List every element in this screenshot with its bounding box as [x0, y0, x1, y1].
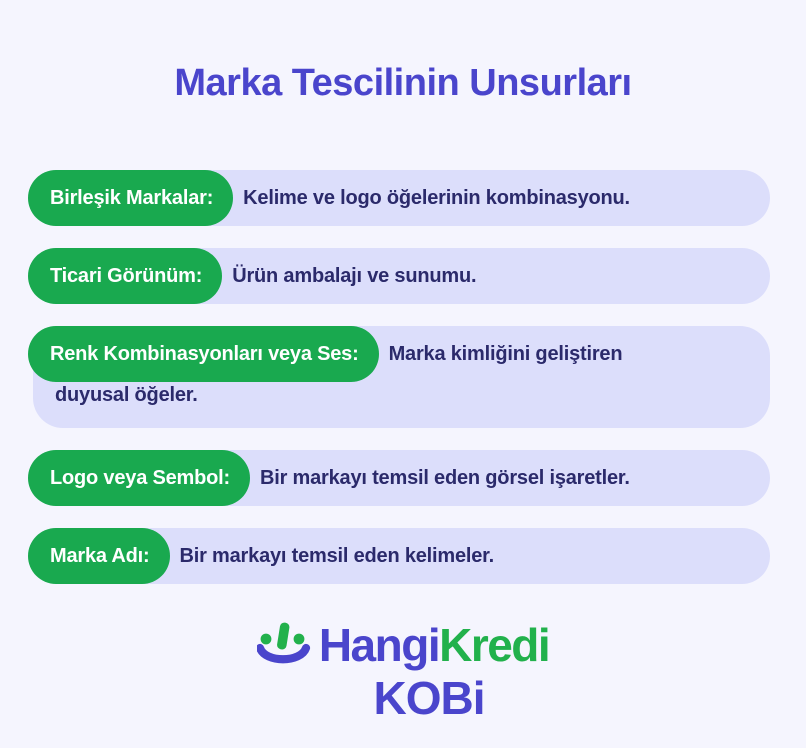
row-first-line: Logo veya Sembol:Bir markayı temsil eden… [33, 450, 770, 506]
list-item: Birleşik Markalar:Kelime ve logo öğeleri… [0, 170, 806, 226]
row-first-line: Birleşik Markalar:Kelime ve logo öğeleri… [33, 170, 770, 226]
logo-word-kobi: KOBi [374, 672, 485, 724]
row-background: Marka Adı:Bir markayı temsil eden kelime… [33, 528, 770, 584]
brand-logo: HangiKredi KOBi [0, 620, 806, 724]
item-label-pill: Renk Kombinasyonları veya Ses: [28, 326, 379, 382]
row-first-line: Marka Adı:Bir markayı temsil eden kelime… [33, 528, 770, 584]
item-label-pill: Logo veya Sembol: [28, 450, 250, 506]
item-description: Bir markayı temsil eden görsel işaretler… [250, 450, 630, 506]
item-description: Ürün ambalajı ve sunumu. [222, 248, 476, 304]
item-label-pill: Marka Adı: [28, 528, 170, 584]
row-background: Logo veya Sembol:Bir markayı temsil eden… [33, 450, 770, 506]
row-first-line: Renk Kombinasyonları veya Ses:Marka kiml… [33, 326, 770, 382]
list-item: Logo veya Sembol:Bir markayı temsil eden… [0, 450, 806, 506]
elements-list: Birleşik Markalar:Kelime ve logo öğeleri… [0, 170, 806, 606]
item-description: Bir markayı temsil eden kelimeler. [170, 528, 495, 584]
logo-word-kredi: Kredi [439, 620, 549, 670]
item-label-pill: Birleşik Markalar: [28, 170, 233, 226]
item-description-continued: duyusal öğeler. [33, 382, 770, 428]
item-description: Marka kimliğini geliştiren [379, 326, 623, 382]
list-item: Ticari Görünüm:Ürün ambalajı ve sunumu. [0, 248, 806, 304]
item-description: Kelime ve logo öğelerinin kombinasyonu. [233, 170, 630, 226]
infographic-page: Marka Tescilinin Unsurları Birleşik Mark… [0, 0, 806, 748]
list-item: Marka Adı:Bir markayı temsil eden kelime… [0, 528, 806, 584]
row-background: Ticari Görünüm:Ürün ambalajı ve sunumu. [33, 248, 770, 304]
row-first-line: Ticari Görünüm:Ürün ambalajı ve sunumu. [33, 248, 770, 304]
row-background: Birleşik Markalar:Kelime ve logo öğeleri… [33, 170, 770, 226]
logo-secondary-line: KOBi [0, 672, 806, 724]
logo-word-hangi: Hangi [319, 620, 439, 670]
smile-face-icon [257, 622, 313, 668]
row-background: Renk Kombinasyonları veya Ses:Marka kiml… [33, 326, 770, 428]
logo-primary-line: HangiKredi [0, 620, 806, 676]
page-title: Marka Tescilinin Unsurları [0, 62, 806, 106]
item-label-pill: Ticari Görünüm: [28, 248, 222, 304]
list-item: Renk Kombinasyonları veya Ses:Marka kiml… [0, 326, 806, 428]
